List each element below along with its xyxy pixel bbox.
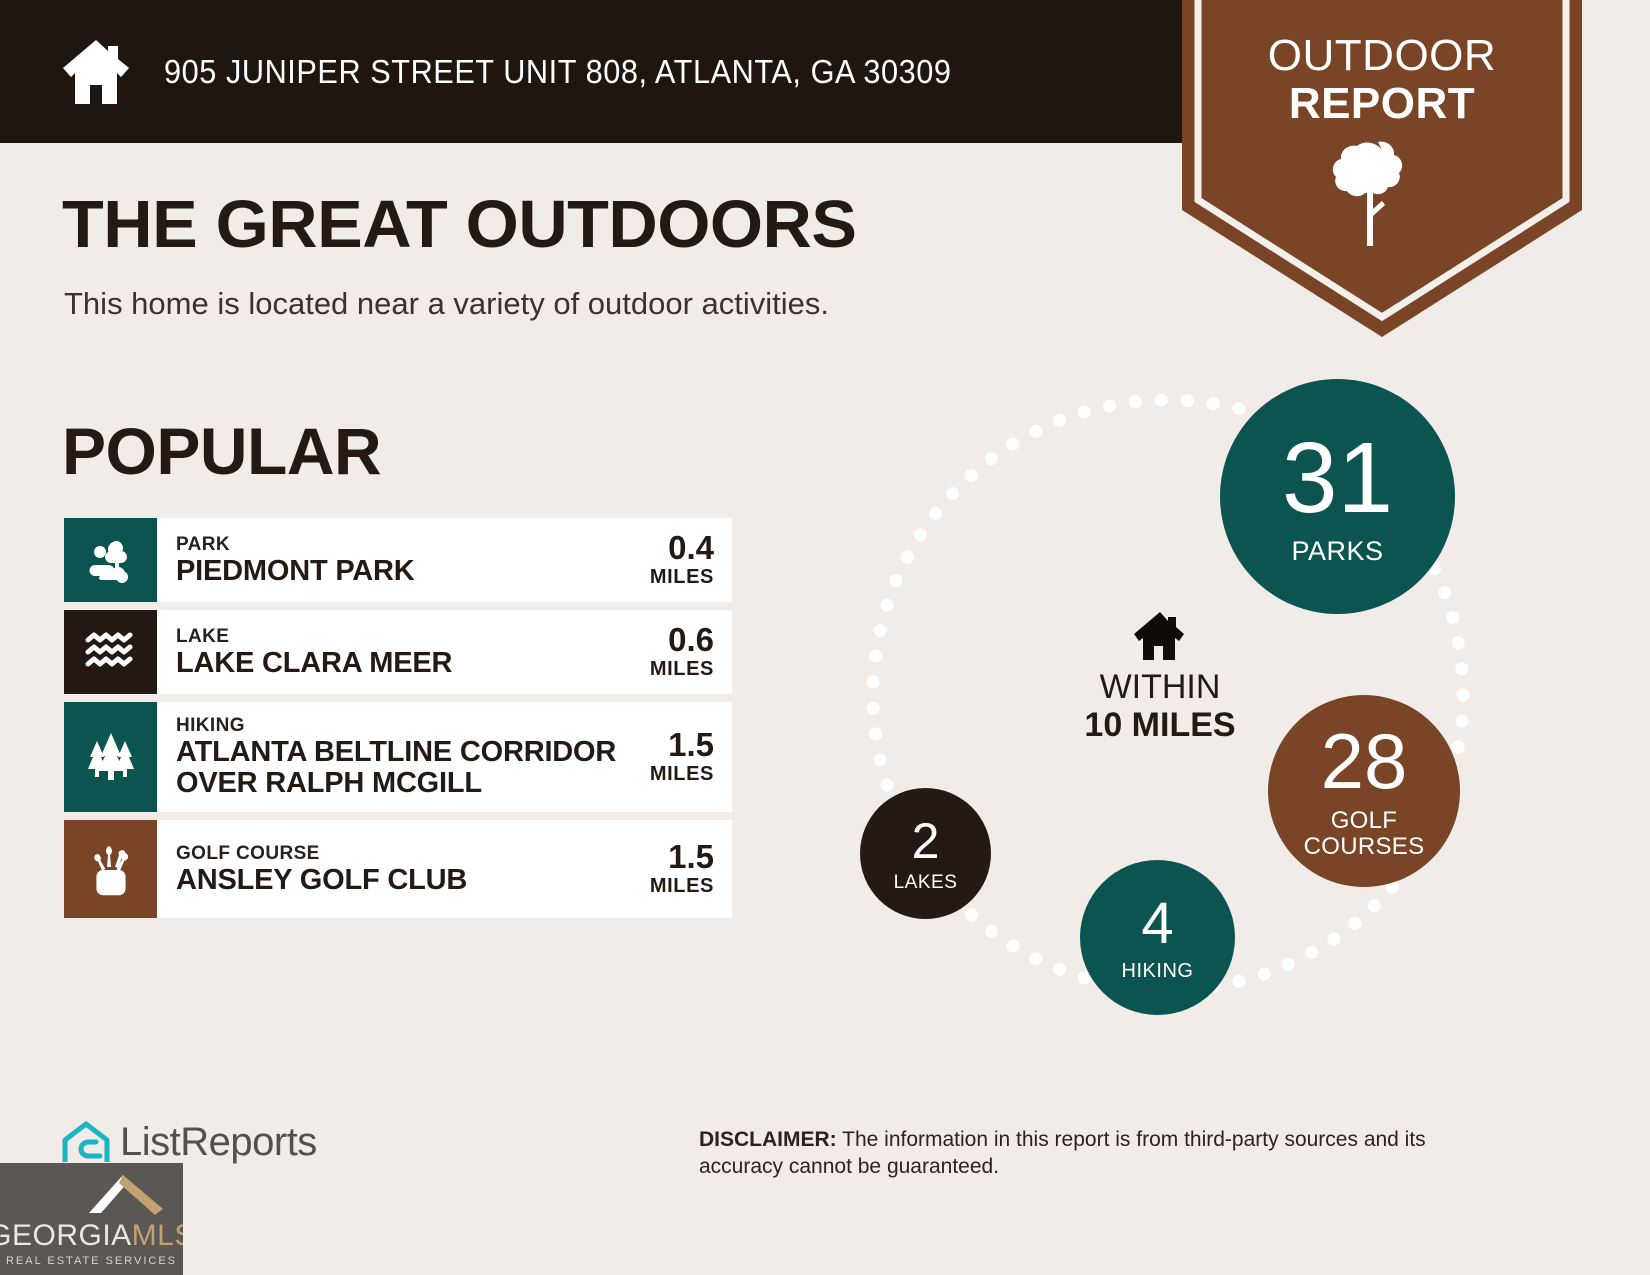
page-subtitle: This home is located near a variety of o… bbox=[64, 286, 829, 322]
bubble-hiking: 4 HIKING bbox=[1080, 860, 1235, 1015]
list-item-name: PIEDMONT PARK bbox=[176, 556, 415, 587]
chart-center-label: WITHIN 10 MILES bbox=[1050, 610, 1270, 744]
bubble-hiking-label: HIKING bbox=[1122, 961, 1194, 981]
distance-value: 0.6 bbox=[618, 623, 714, 656]
mls-tagline: REAL ESTATE SERVICES bbox=[6, 1255, 177, 1267]
list-item-distance: 1.5 MILES bbox=[618, 728, 714, 786]
distance-unit: MILES bbox=[618, 875, 714, 898]
bubble-golf-courses: 28 GOLF COURSES bbox=[1268, 695, 1460, 887]
water-waves-icon bbox=[64, 610, 157, 694]
georgia-mls-watermark: GEORGIAMLS REAL ESTATE SERVICES bbox=[0, 1163, 183, 1275]
distance-value: 1.5 bbox=[618, 728, 714, 761]
listreports-wordmark: ListReports bbox=[120, 1120, 317, 1165]
badge-shield-shape bbox=[1182, 0, 1582, 337]
list-item-category: PARK bbox=[176, 534, 415, 556]
popular-list: PARK PIEDMONT PARK 0.4 MILES bbox=[64, 518, 732, 926]
house-icon bbox=[1132, 610, 1188, 662]
distance-unit: MILES bbox=[618, 566, 714, 589]
list-item-category: HIKING bbox=[176, 715, 616, 737]
list-item-distance: 1.5 MILES bbox=[618, 840, 714, 898]
outdoor-report-badge: OUTDOOR REPORT bbox=[1182, 0, 1582, 337]
listreports-logo[interactable]: ListReports bbox=[58, 1118, 317, 1166]
house-icon bbox=[58, 37, 134, 107]
bubble-golf-label: GOLF COURSES bbox=[1304, 808, 1425, 860]
mls-wordmark: GEORGIAMLS bbox=[0, 1220, 183, 1252]
mls-roof-icon bbox=[83, 1169, 169, 1215]
list-item[interactable]: PARK PIEDMONT PARK 0.4 MILES bbox=[64, 518, 732, 602]
list-item[interactable]: HIKING ATLANTA BELTLINE CORRIDOR OVER RA… bbox=[64, 702, 732, 812]
list-item-name: ANSLEY GOLF CLUB bbox=[176, 865, 467, 896]
center-label-line-2: 10 MILES bbox=[1050, 706, 1270, 744]
property-address: 905 JUNIPER STREET UNIT 808, ATLANTA, GA… bbox=[164, 53, 952, 91]
park-trees-icon bbox=[64, 518, 157, 602]
mls-wordmark-mls: MLS bbox=[132, 1219, 183, 1252]
list-item-name: ATLANTA BELTLINE CORRIDOR OVER RALPH MCG… bbox=[176, 737, 616, 799]
bubble-lakes-value: 2 bbox=[912, 816, 940, 866]
bubble-parks-label: PARKS bbox=[1291, 538, 1383, 565]
center-label-line-1: WITHIN bbox=[1050, 668, 1270, 706]
golf-bag-icon bbox=[64, 820, 157, 918]
bubble-parks: 31 PARKS bbox=[1220, 379, 1455, 614]
outdoor-report-page: 905 JUNIPER STREET UNIT 808, ATLANTA, GA… bbox=[0, 0, 1650, 1275]
bubble-lakes-label: LAKES bbox=[894, 873, 958, 892]
distance-unit: MILES bbox=[618, 658, 714, 681]
disclaimer: DISCLAIMER: The information in this repo… bbox=[699, 1126, 1511, 1180]
header-bar: 905 JUNIPER STREET UNIT 808, ATLANTA, GA… bbox=[0, 0, 1240, 143]
bubble-parks-value: 31 bbox=[1282, 428, 1393, 528]
popular-heading: POPULAR bbox=[62, 413, 381, 489]
bubble-golf-value: 28 bbox=[1321, 722, 1408, 800]
list-item[interactable]: GOLF COURSE ANSLEY GOLF CLUB 1.5 MILES bbox=[64, 820, 732, 918]
page-title: THE GREAT OUTDOORS bbox=[62, 186, 856, 263]
bubble-hiking-value: 4 bbox=[1141, 895, 1173, 953]
bubble-lakes: 2 LAKES bbox=[860, 788, 991, 919]
distance-unit: MILES bbox=[618, 763, 714, 786]
list-item-category: GOLF COURSE bbox=[176, 843, 467, 865]
pine-trees-icon bbox=[64, 702, 157, 812]
list-item-name: LAKE CLARA MEER bbox=[176, 648, 452, 679]
list-item-distance: 0.4 MILES bbox=[618, 531, 714, 589]
within-10-miles-bubble-chart: 31 PARKS 28 GOLF COURSES 4 HIKING 2 LAKE… bbox=[820, 350, 1520, 1050]
house-outline-icon bbox=[58, 1118, 114, 1166]
list-item-category: LAKE bbox=[176, 626, 452, 648]
list-item[interactable]: LAKE LAKE CLARA MEER 0.6 MILES bbox=[64, 610, 732, 694]
distance-value: 0.4 bbox=[618, 531, 714, 564]
mls-wordmark-georgia: GEORGIA bbox=[0, 1219, 132, 1252]
list-item-distance: 0.6 MILES bbox=[618, 623, 714, 681]
distance-value: 1.5 bbox=[618, 840, 714, 873]
disclaimer-label: DISCLAIMER: bbox=[699, 1128, 837, 1151]
